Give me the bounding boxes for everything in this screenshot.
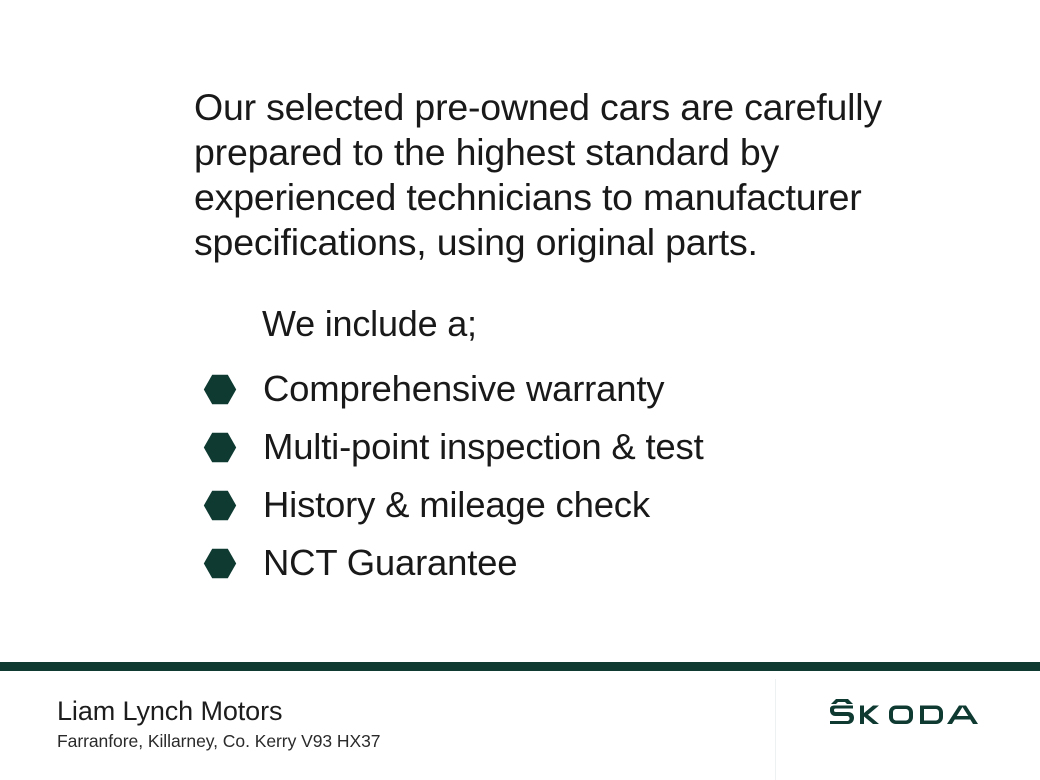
dealer-info: Liam Lynch Motors Farranfore, Killarney,… xyxy=(57,695,380,754)
list-item-label: NCT Guarantee xyxy=(239,545,517,582)
list-item-label: Multi-point inspection & test xyxy=(239,429,704,466)
hexagon-bullet-icon xyxy=(203,371,239,407)
inclusions-list: Comprehensive warranty Multi-point inspe… xyxy=(203,360,923,592)
footer-divider-rule xyxy=(0,662,1040,671)
list-item: History & mileage check xyxy=(203,476,923,534)
skoda-logo xyxy=(776,671,1040,780)
include-intro-text: We include a; xyxy=(262,302,477,346)
headline-text: Our selected pre-owned cars are carefull… xyxy=(194,85,894,265)
hexagon-bullet-icon xyxy=(203,545,239,581)
list-item: Multi-point inspection & test xyxy=(203,418,923,476)
list-item-label: History & mileage check xyxy=(239,487,650,524)
list-item: NCT Guarantee xyxy=(203,534,923,592)
promo-slide: Our selected pre-owned cars are carefull… xyxy=(0,0,1040,780)
list-item-label: Comprehensive warranty xyxy=(239,371,664,408)
hexagon-bullet-icon xyxy=(203,487,239,523)
hexagon-bullet-icon xyxy=(203,429,239,465)
dealer-address: Farranfore, Killarney, Co. Kerry V93 HX3… xyxy=(57,728,380,754)
list-item: Comprehensive warranty xyxy=(203,360,923,418)
dealer-name: Liam Lynch Motors xyxy=(57,695,380,728)
